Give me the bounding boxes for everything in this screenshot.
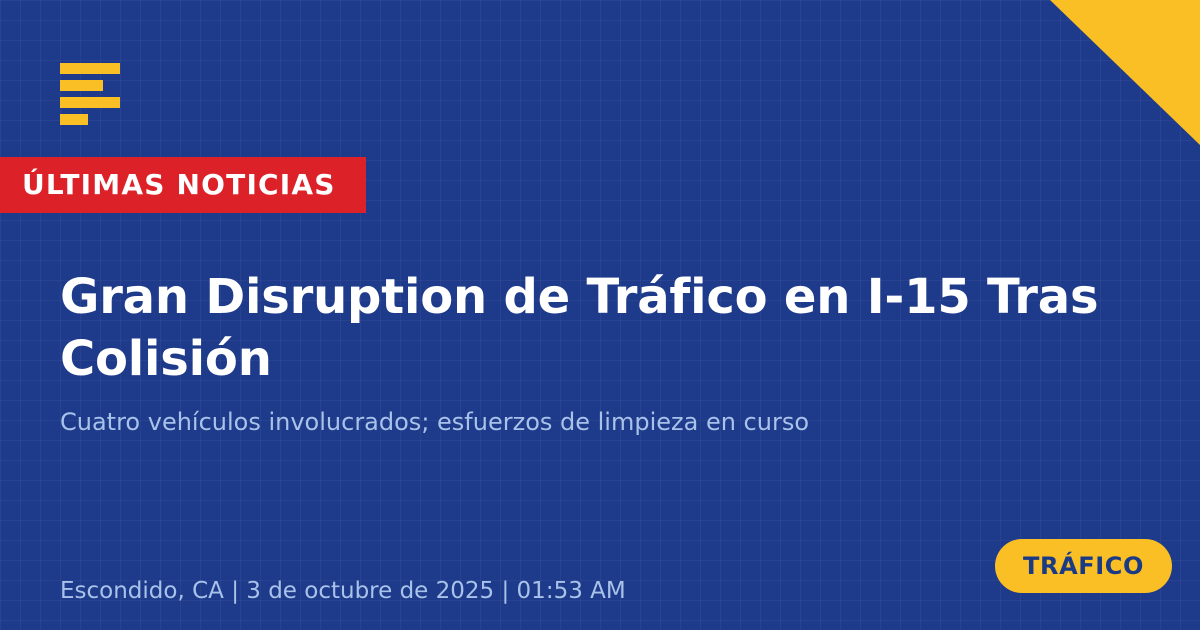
bar-stack-logo <box>60 63 130 125</box>
logo-bar-2 <box>60 80 103 91</box>
article-subtitle: Cuatro vehículos involucrados; esfuerzos… <box>60 406 1060 438</box>
logo-bar-3 <box>60 97 120 108</box>
category-label: TRÁFICO <box>1023 554 1144 578</box>
logo-bar-4 <box>60 114 88 125</box>
news-banner-card: ÚLTIMAS NOTICIAS Gran Disruption de Tráf… <box>0 0 1200 630</box>
logo-bar-1 <box>60 63 120 74</box>
meta-line: Escondido, CA | 3 de octubre de 2025 | 0… <box>60 576 626 606</box>
status-badge: TRÁFICO <box>995 539 1172 593</box>
breaking-news-label: ÚLTIMAS NOTICIAS <box>22 171 336 199</box>
corner-wedge-decoration <box>1050 0 1200 145</box>
breaking-news-badge: ÚLTIMAS NOTICIAS <box>0 157 366 213</box>
page-title: Gran Disruption de Tráfico en I-15 Tras … <box>60 266 1150 390</box>
